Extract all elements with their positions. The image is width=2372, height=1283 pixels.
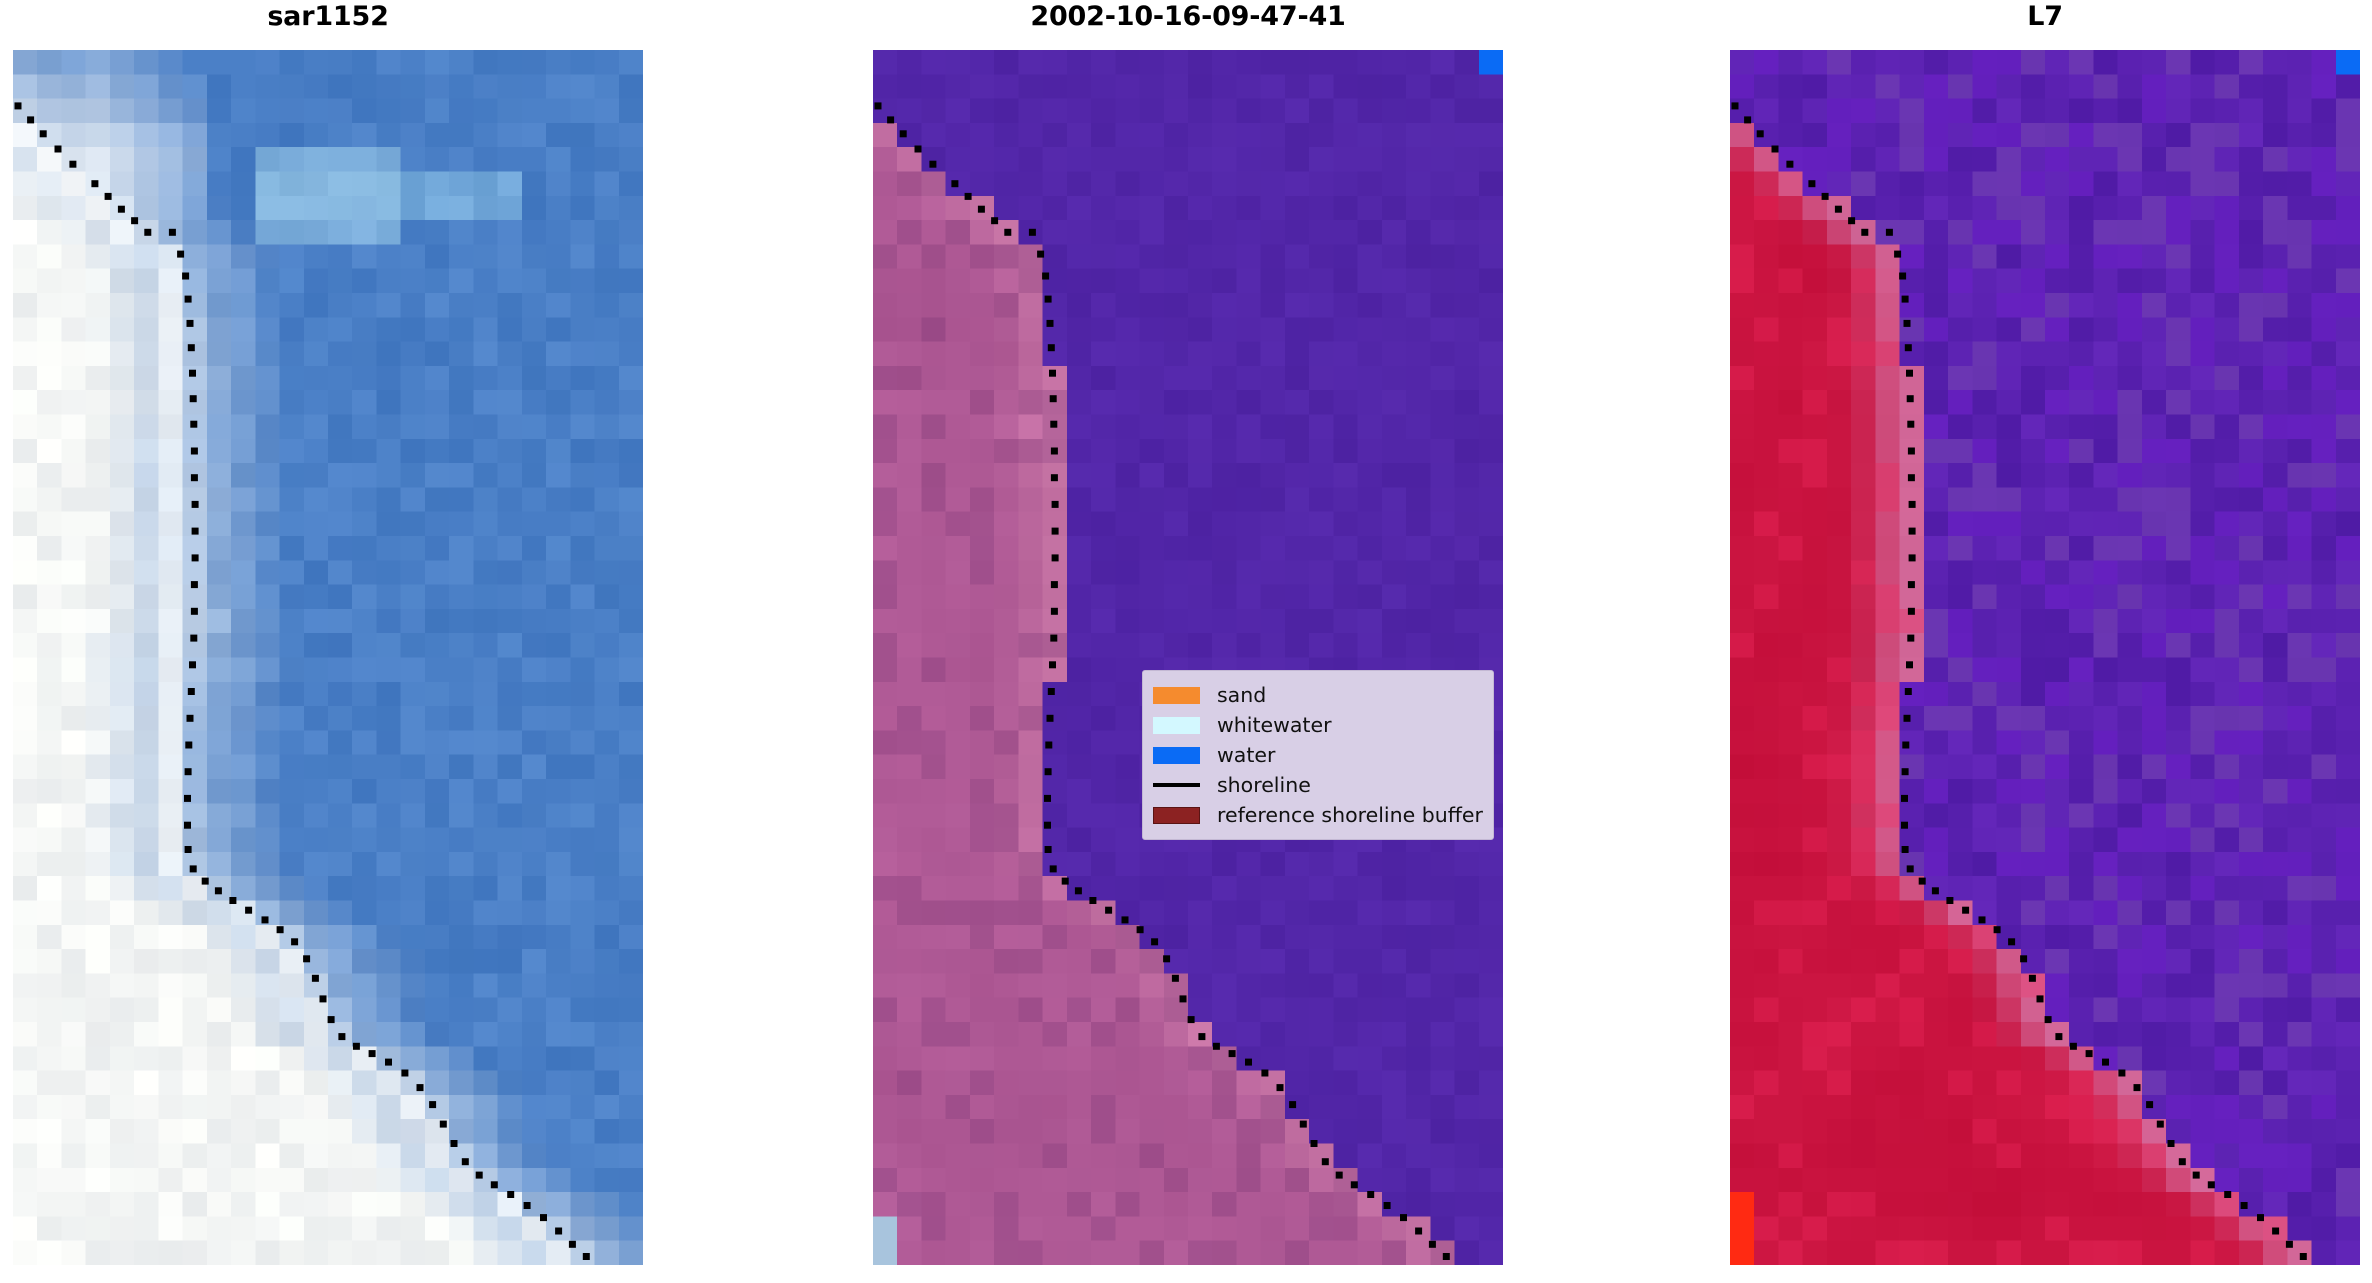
axes-l7-image[interactable]	[1730, 50, 2360, 1265]
axes-classified-image[interactable]	[873, 50, 1503, 1265]
panel-classified: 2002-10-16-09-47-41	[873, 0, 1503, 1283]
legend-label-reference-buffer: reference shoreline buffer	[1215, 800, 1483, 830]
sand-color-swatch	[1153, 687, 1200, 704]
reference-buffer-color-swatch	[1153, 807, 1200, 824]
whitewater-color-swatch	[1153, 717, 1200, 734]
class-legend: sand whitewater water shoreline referenc…	[1142, 670, 1494, 840]
legend-label-whitewater: whitewater	[1215, 710, 1332, 740]
legend-item-shoreline: shoreline	[1153, 770, 1482, 800]
legend-label-sand: sand	[1215, 680, 1266, 710]
sar-image-canvas	[13, 50, 643, 1265]
legend-swatch-wrap-water	[1153, 740, 1215, 770]
legend-item-sand: sand	[1153, 680, 1482, 710]
legend-label-shoreline: shoreline	[1215, 770, 1311, 800]
legend-swatch-wrap-sand	[1153, 680, 1215, 710]
panel-l7: L7	[1730, 0, 2360, 1283]
panel-title-timestamp: 2002-10-16-09-47-41	[873, 0, 1503, 36]
panel-sar1152: sar1152	[13, 0, 643, 1283]
classified-image-canvas	[873, 50, 1503, 1265]
legend-item-water: water	[1153, 740, 1482, 770]
legend-item-reference-buffer: reference shoreline buffer	[1153, 800, 1482, 830]
legend-label-water: water	[1215, 740, 1275, 770]
legend-item-whitewater: whitewater	[1153, 710, 1482, 740]
water-color-swatch	[1153, 747, 1200, 764]
legend-swatch-wrap-reference-buffer	[1153, 800, 1215, 830]
panel-title-l7: L7	[1730, 0, 2360, 36]
axes-sar-image[interactable]	[13, 50, 643, 1265]
legend-swatch-wrap-shoreline	[1153, 770, 1215, 800]
legend-swatch-wrap-whitewater	[1153, 710, 1215, 740]
figure-canvas: sar1152 2002-10-16-09-47-41 L7 sand	[0, 0, 2372, 1283]
panel-title-sar: sar1152	[13, 0, 643, 36]
l7-image-canvas	[1730, 50, 2360, 1265]
shoreline-line-swatch	[1153, 783, 1200, 787]
